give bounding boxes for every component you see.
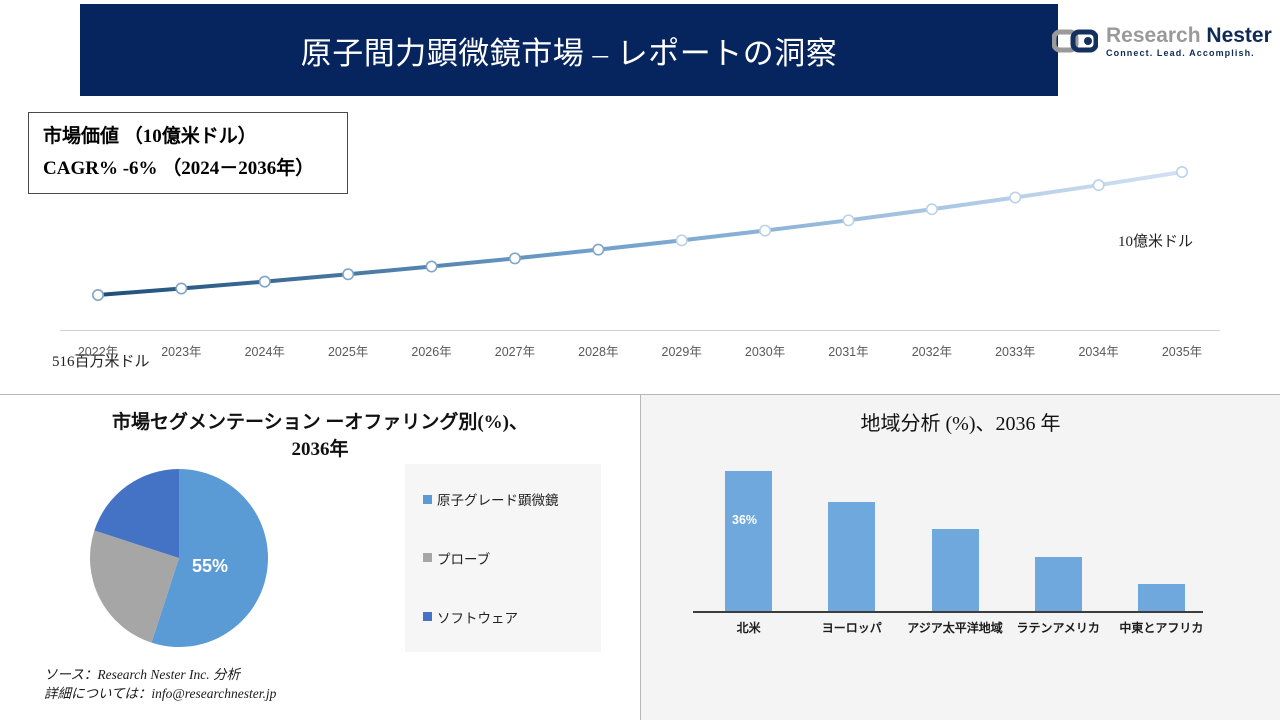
legend-item[interactable]: ソフトウェア xyxy=(423,607,601,627)
x-axis-tick-label: 2023年 xyxy=(161,341,201,360)
source-line-2: 詳細については：info@researchnester.jp xyxy=(44,684,276,703)
regional-analysis-panel: 地域分析 (%)、2036 年 北米ヨーロッパアジア太平洋地域ラテンアメリカ中東… xyxy=(641,395,1280,720)
legend-label: ソフトウェア xyxy=(437,607,518,627)
line-data-point xyxy=(843,215,853,225)
pie-legend: 原子グレード顕微鏡 プローブ ソフトウェア xyxy=(405,464,601,652)
x-axis-tick-label: 2025年 xyxy=(328,341,368,360)
bar-category-label: 中東とアフリカ xyxy=(1119,619,1203,636)
x-axis-tick-label: 2030年 xyxy=(745,341,785,360)
header-banner: 原子間力顕微鏡市場 – レポートの洞察 xyxy=(80,4,1058,96)
bar-data-label: 36% xyxy=(732,513,757,527)
legend-swatch-icon xyxy=(423,495,432,504)
pie-chart-title: 市場セグメンテーション ーオファリング別(%)、 2036年 xyxy=(40,409,600,463)
line-data-point xyxy=(1010,192,1020,202)
x-axis-tick-label: 2032年 xyxy=(912,341,952,360)
line-data-point xyxy=(93,290,103,300)
legend-item[interactable]: 原子グレード顕微鏡 xyxy=(423,489,601,509)
line-series-markers xyxy=(93,167,1187,300)
logo-tagline: Connect. Lead. Accomplish. xyxy=(1106,49,1272,58)
offering-pie-chart xyxy=(88,467,270,649)
x-axis-tick-label: 2033年 xyxy=(995,341,1035,360)
line-data-point xyxy=(426,261,436,271)
bar-category-labels: 北米ヨーロッパアジア太平洋地域ラテンアメリカ中東とアフリカ xyxy=(697,619,1213,639)
bar-category-label: ラテンアメリカ xyxy=(1016,619,1099,636)
bar[interactable] xyxy=(1035,557,1082,611)
x-axis-tick-label: 2026年 xyxy=(411,341,451,360)
legend-label: プローブ xyxy=(437,548,490,568)
brand-logo[interactable]: Research Nester Connect. Lead. Accomplis… xyxy=(1052,14,1274,68)
bar-category-label: ヨーロッパ xyxy=(822,619,882,636)
line-data-point xyxy=(760,225,770,235)
bar-chart-baseline xyxy=(693,611,1203,613)
x-axis-tick-label: 2027年 xyxy=(495,341,535,360)
line-data-point xyxy=(676,235,686,245)
regional-bar-chart xyxy=(697,471,1213,611)
line-data-point xyxy=(343,269,353,279)
logo-word-research: Research xyxy=(1106,24,1201,47)
x-axis-tick-label: 2022年 xyxy=(78,341,118,360)
bar[interactable] xyxy=(725,471,772,611)
legend-item[interactable]: プローブ xyxy=(423,548,601,568)
x-axis-tick-label: 2031年 xyxy=(828,341,868,360)
pie-title-line-1: 市場セグメンテーション ーオファリング別(%)、 xyxy=(112,412,528,433)
bar[interactable] xyxy=(828,502,875,611)
bar-chart-title: 地域分析 (%)、2036 年 xyxy=(641,407,1280,436)
x-axis-tick-label: 2034年 xyxy=(1078,341,1118,360)
bar[interactable] xyxy=(1138,584,1185,611)
chain-link-logo-icon xyxy=(1052,24,1098,58)
logo-wordmark: Research Nester xyxy=(1106,25,1272,46)
bar-category-label: 北米 xyxy=(737,619,761,636)
legend-swatch-icon xyxy=(423,553,432,562)
x-axis-tick-label: 2024年 xyxy=(245,341,285,360)
x-axis-tick-labels: 2022年2023年2024年2025年2026年2027年2028年2029年… xyxy=(60,341,1220,363)
line-data-point xyxy=(176,283,186,293)
logo-text-wrap: Research Nester Connect. Lead. Accomplis… xyxy=(1106,25,1272,58)
line-data-point xyxy=(510,253,520,263)
segmentation-panel: 市場セグメンテーション ーオファリング別(%)、 2036年 55% 原子グレー… xyxy=(0,395,640,720)
page-title: 原子間力顕微鏡市場 – レポートの洞察 xyxy=(301,28,838,73)
x-axis-tick-label: 2028年 xyxy=(578,341,618,360)
bar[interactable] xyxy=(932,529,979,611)
pie-data-label: 55% xyxy=(192,556,228,577)
logo-word-nester: Nester xyxy=(1206,24,1271,47)
line-data-point xyxy=(1177,167,1187,177)
end-value-annotation: 10億米ドル xyxy=(1118,230,1193,251)
legend-label: 原子グレード顕微鏡 xyxy=(437,489,559,509)
line-data-point xyxy=(927,204,937,214)
x-axis-tick-label: 2035年 xyxy=(1162,341,1202,360)
vertical-divider xyxy=(640,394,641,720)
line-data-point xyxy=(1093,180,1103,190)
legend-swatch-icon xyxy=(423,612,432,621)
bar-category-label: アジア太平洋地域 xyxy=(907,619,1003,636)
source-note: ソース：Research Nester Inc. 分析 詳細については：info… xyxy=(44,665,276,703)
line-data-point xyxy=(260,276,270,286)
x-axis-line xyxy=(60,330,1220,331)
line-data-point xyxy=(593,244,603,254)
line-series-path xyxy=(98,172,1182,295)
x-axis-tick-label: 2029年 xyxy=(662,341,702,360)
source-line-1: ソース：Research Nester Inc. 分析 xyxy=(44,665,276,684)
pie-title-line-2: 2036年 xyxy=(291,439,348,460)
pie-slice-group xyxy=(90,469,268,647)
